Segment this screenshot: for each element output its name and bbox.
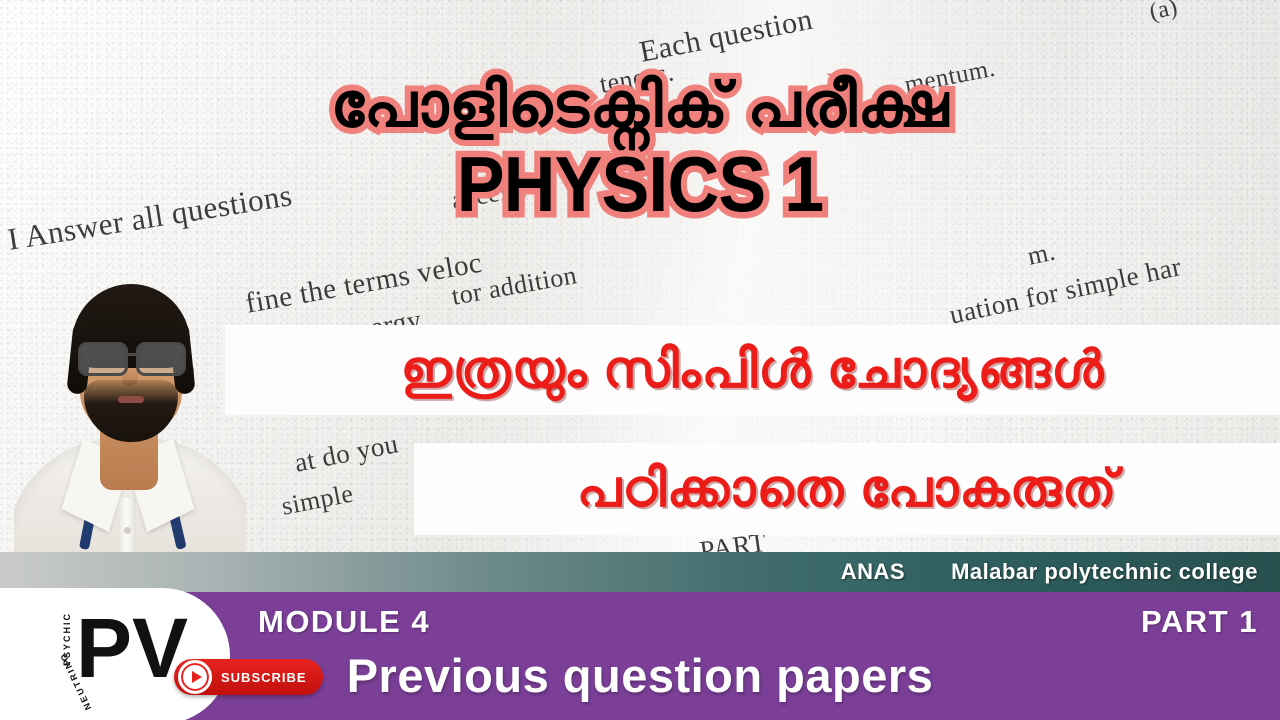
photo-shirt-button — [124, 527, 131, 534]
headline-malayalam: പോളിടെക്നിക് പരീക്ഷ — [0, 74, 1280, 137]
photo-lens-bridge — [122, 353, 142, 356]
banner-text-1: ഇത്രയും സിംപിൾ ചോദ്യങ്ങൾ — [401, 340, 1105, 401]
banner-row-2: പഠിക്കാതെ പോകരുത് — [414, 443, 1280, 535]
photo-mouth — [118, 396, 144, 403]
paper-text-line: m. — [1025, 237, 1058, 272]
headline-group: പോളിടെക്നിക് പരീക്ഷ PHYSICS 1 — [0, 74, 1280, 223]
subscribe-label: SUBSCRIBE — [221, 670, 307, 685]
banner-text-2: പഠിക്കാതെ പോകരുത് — [577, 459, 1117, 520]
headline-english: PHYSICS 1 — [51, 145, 1229, 223]
module-label: MODULE 4 — [258, 604, 430, 640]
thumbnail-canvas: I Answer all questions fine the terms ve… — [0, 0, 1280, 720]
credit-bar: ANAS Malabar polytechnic college — [0, 552, 1280, 592]
play-icon — [178, 660, 212, 694]
photo-lens — [136, 342, 186, 376]
logo-monogram: PV — [76, 606, 188, 690]
banner-row-1: ഇത്രയും സിംപിൾ ചോദ്യങ്ങൾ — [225, 325, 1280, 415]
credit-bar-content: ANAS Malabar polytechnic college — [841, 559, 1280, 585]
institution-name: Malabar polytechnic college — [951, 559, 1258, 585]
subscribe-button[interactable]: SUBSCRIBE — [174, 659, 323, 695]
presenter-name: ANAS — [841, 559, 905, 585]
channel-logo: PV PSYCHIC NEUTRINO — [56, 604, 142, 708]
photo-beard — [84, 380, 178, 442]
part-label: PART 1 — [1141, 604, 1258, 640]
glasses-icon — [76, 342, 188, 370]
photo-lens — [78, 342, 128, 376]
